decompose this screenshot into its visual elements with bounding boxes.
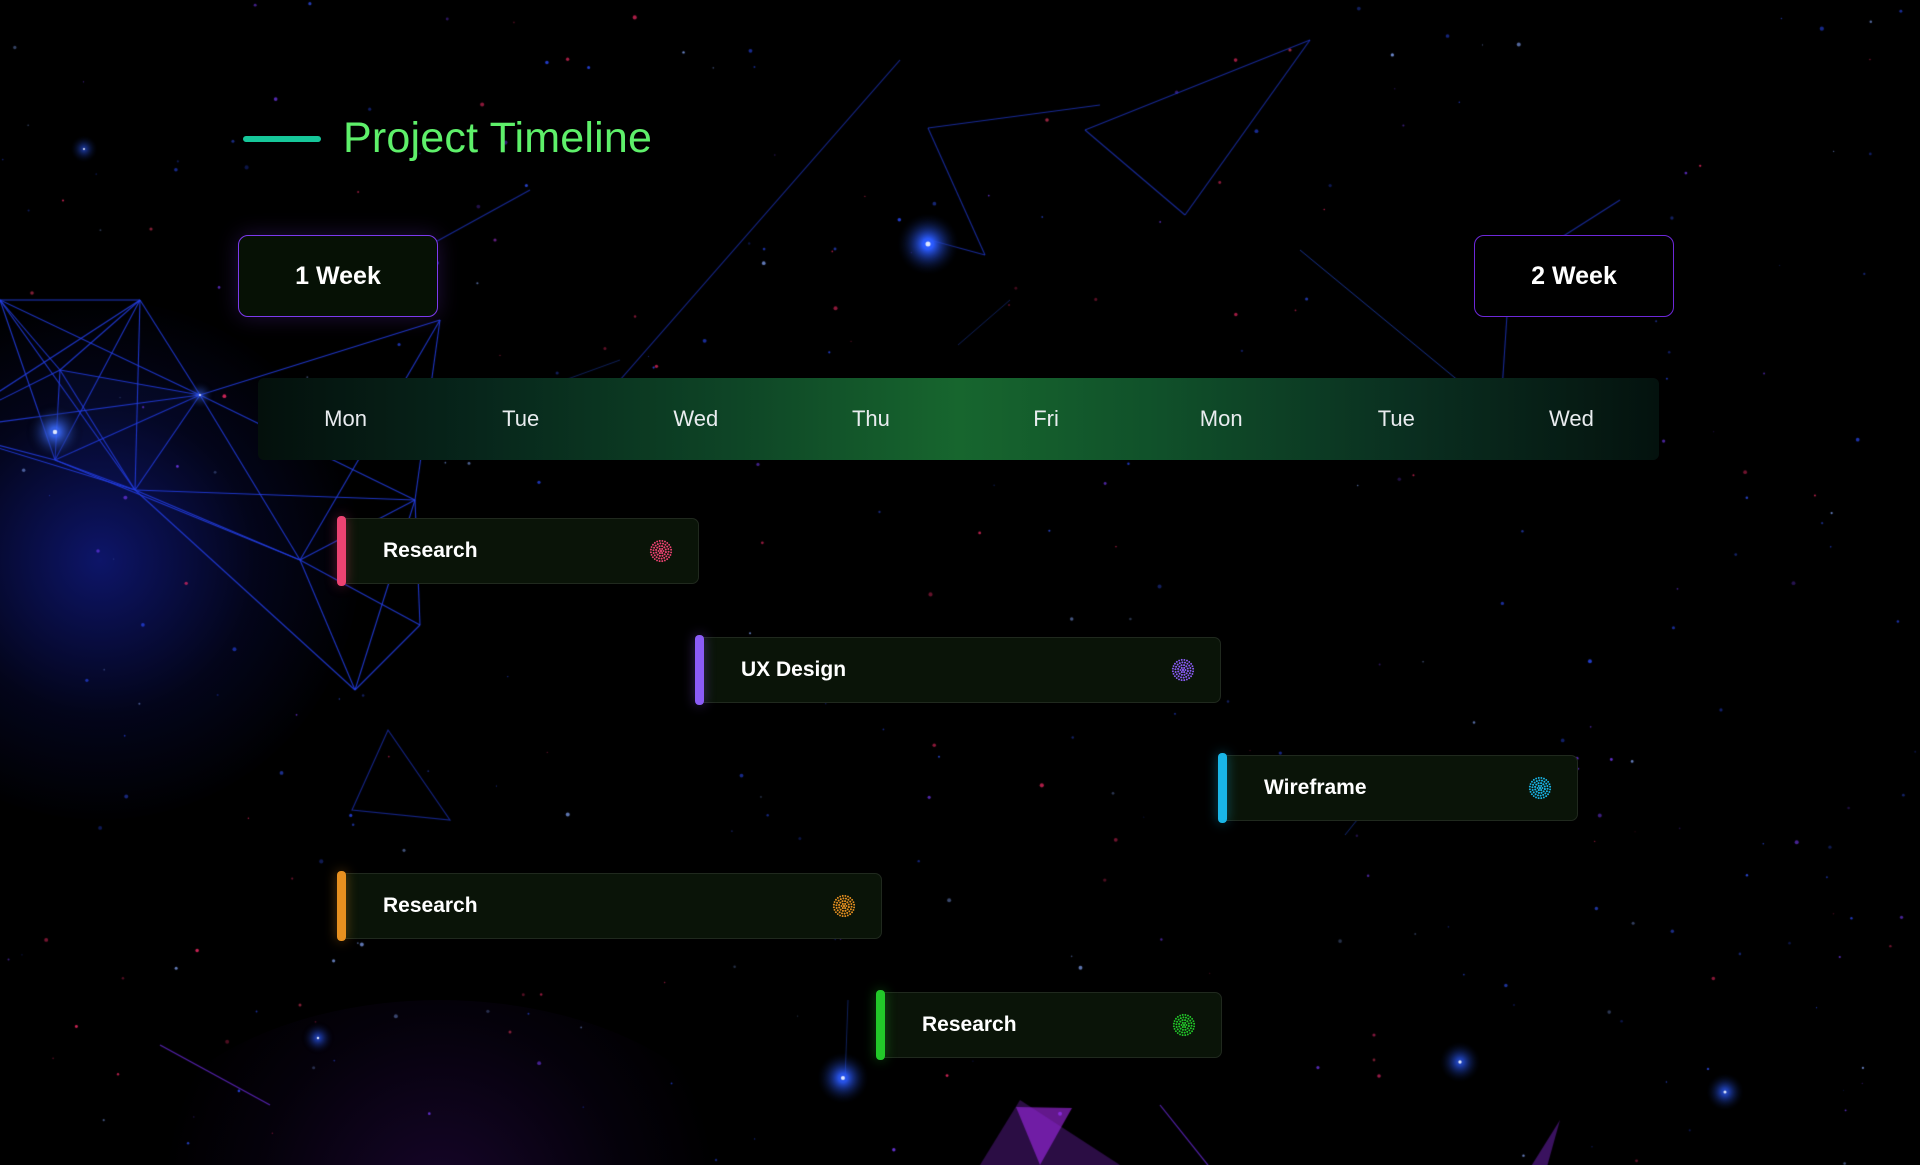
task-accent-bar xyxy=(876,990,885,1060)
timeline-day-thu-3[interactable]: Thu xyxy=(783,406,958,432)
page-header: Project Timeline xyxy=(243,117,652,160)
task-accent-bar xyxy=(337,516,346,586)
task-accent-bar xyxy=(1218,753,1227,823)
timeline-day-header: MonTueWedThuFriMonTueWed xyxy=(258,378,1659,460)
timeline-day-mon-0[interactable]: Mon xyxy=(258,406,433,432)
task-accent-bar xyxy=(337,871,346,941)
task-label: Research xyxy=(383,894,478,918)
range-button-1-week[interactable]: 1 Week xyxy=(238,235,438,317)
dotted-radial-circle-icon xyxy=(648,538,674,564)
range-button-2-week[interactable]: 2 Week xyxy=(1474,235,1674,317)
horizontal-dash-icon xyxy=(243,136,321,142)
task-bar[interactable]: Research xyxy=(878,992,1222,1058)
page-root: Project Timeline 1 Week 2 Week MonTueWed… xyxy=(0,0,1920,1165)
task-label: Research xyxy=(922,1013,1017,1037)
timeline-day-tue-1[interactable]: Tue xyxy=(433,406,608,432)
dotted-radial-circle-icon xyxy=(1171,1012,1197,1038)
task-accent-bar xyxy=(695,635,704,705)
timeline-day-wed-7[interactable]: Wed xyxy=(1484,406,1659,432)
task-bar[interactable]: Research xyxy=(339,518,699,584)
dotted-radial-circle-icon xyxy=(1170,657,1196,683)
timeline-day-mon-5[interactable]: Mon xyxy=(1134,406,1309,432)
timeline-day-tue-6[interactable]: Tue xyxy=(1309,406,1484,432)
range-button-1-week-label: 1 Week xyxy=(295,262,381,291)
task-bar[interactable]: UX Design xyxy=(697,637,1221,703)
timeline-day-wed-2[interactable]: Wed xyxy=(608,406,783,432)
task-label: Wireframe xyxy=(1264,776,1367,800)
task-bar[interactable]: Research xyxy=(339,873,882,939)
task-label: UX Design xyxy=(741,658,846,682)
range-button-2-week-label: 2 Week xyxy=(1531,262,1617,291)
task-bar[interactable]: Wireframe xyxy=(1220,755,1578,821)
dotted-radial-circle-icon xyxy=(1527,775,1553,801)
page-title: Project Timeline xyxy=(343,117,652,160)
task-label: Research xyxy=(383,539,478,563)
timeline-day-fri-4[interactable]: Fri xyxy=(959,406,1134,432)
dotted-radial-circle-icon xyxy=(831,893,857,919)
